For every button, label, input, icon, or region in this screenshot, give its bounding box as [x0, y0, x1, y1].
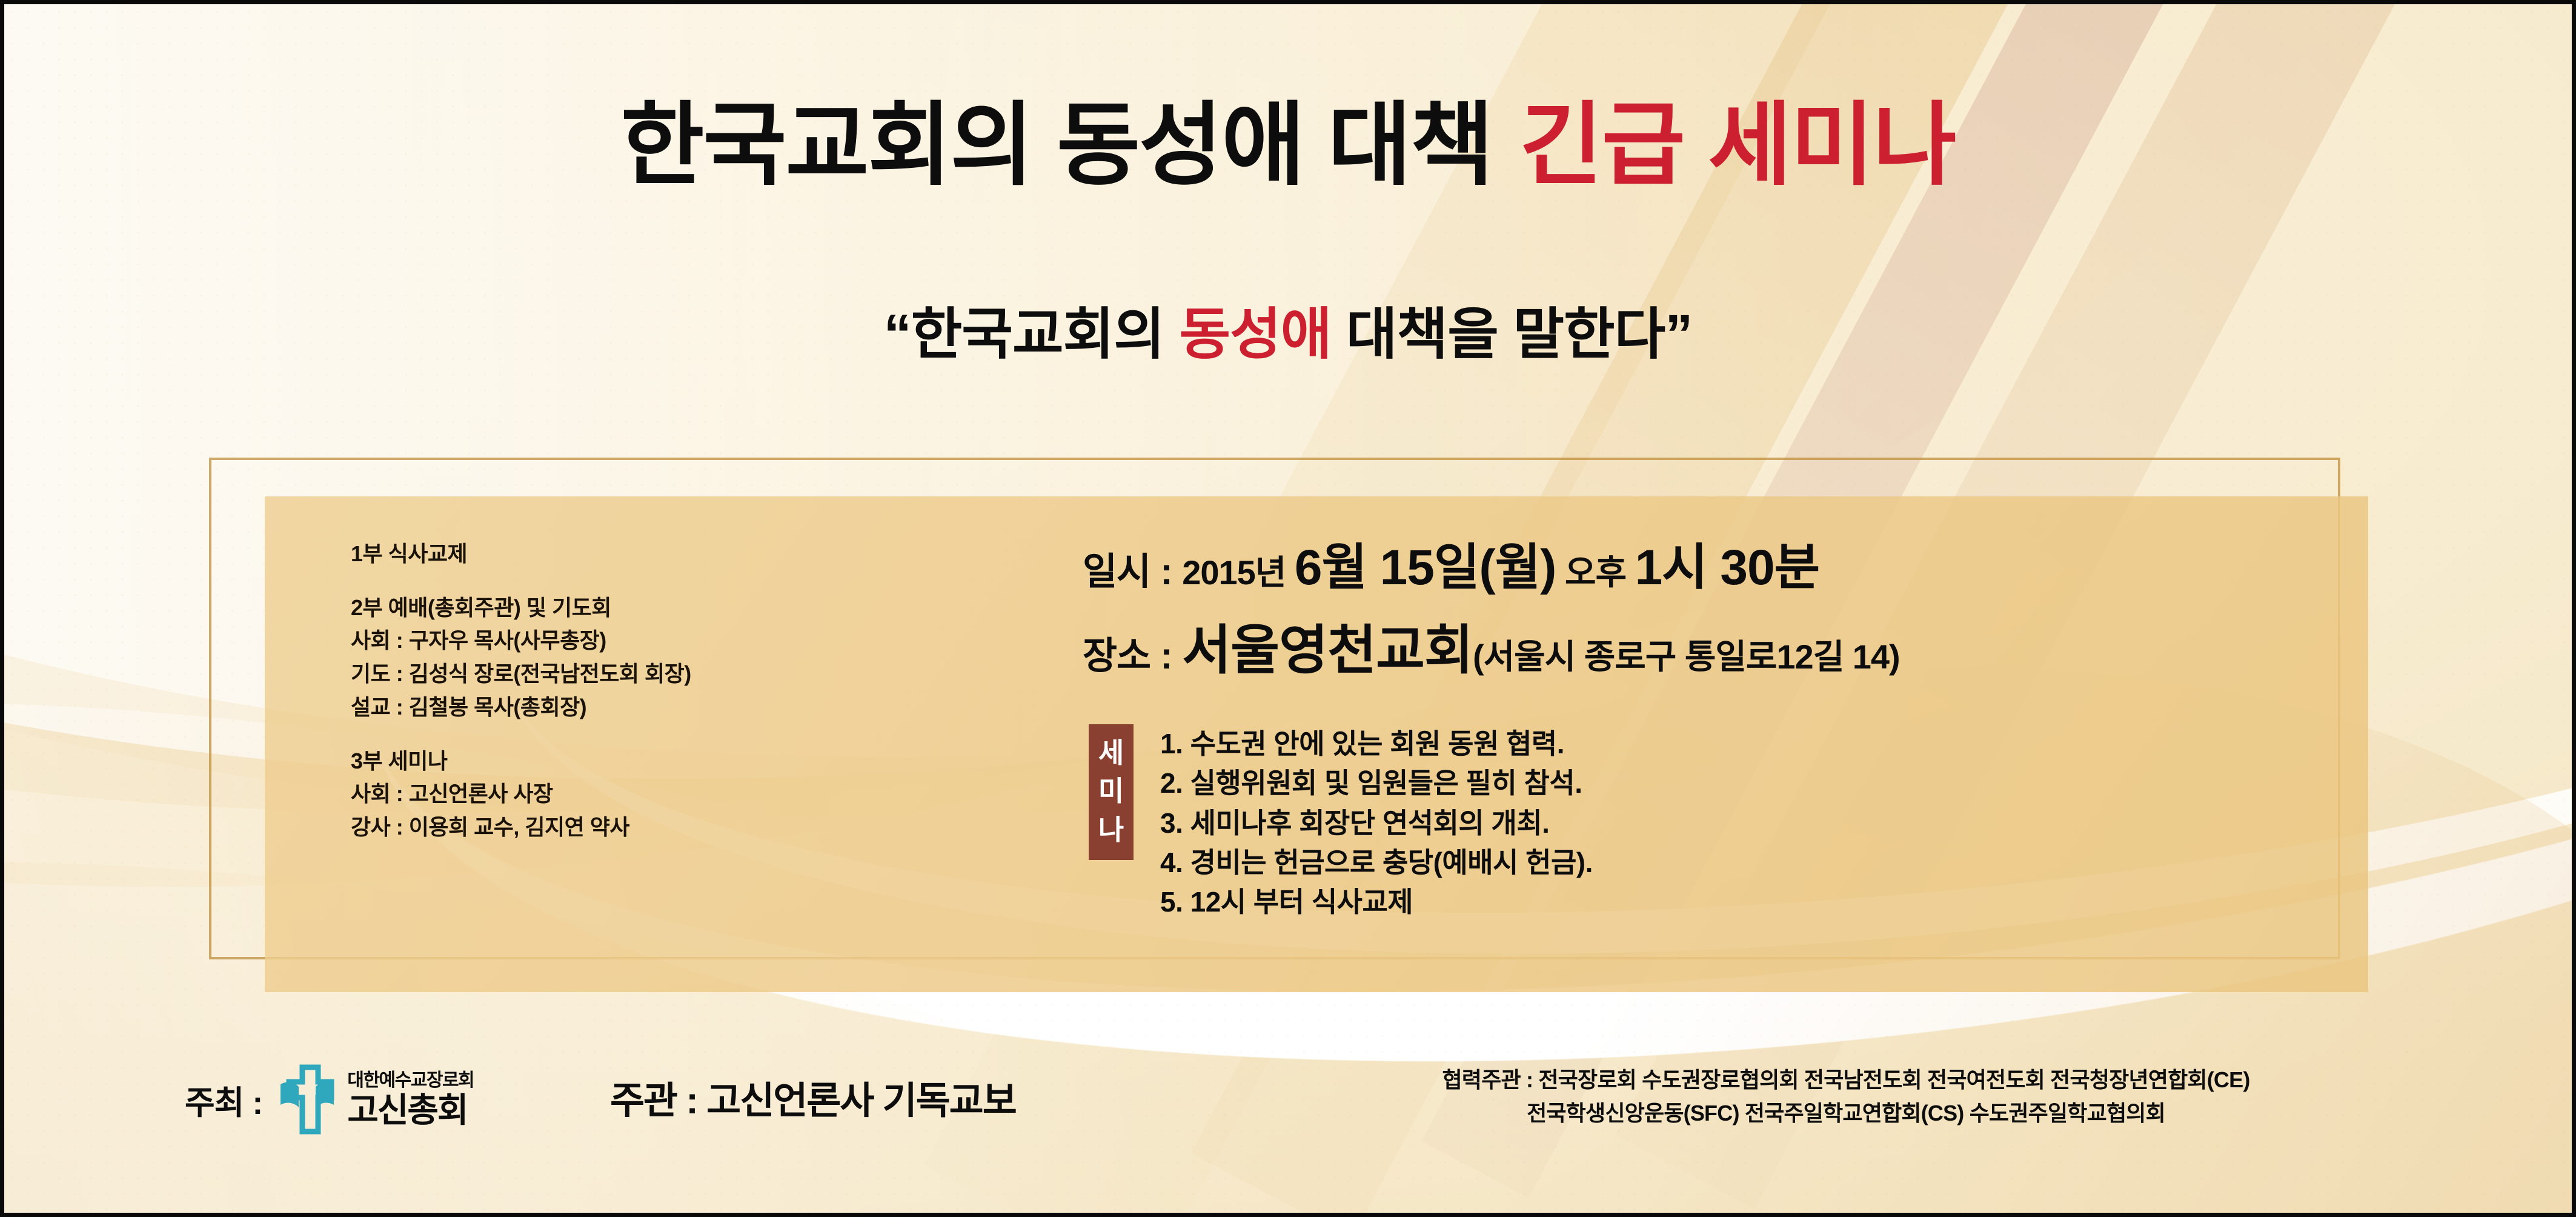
datetime-label: 일시 : — [1083, 551, 1182, 593]
partner-organizations: 협력주관 : 전국장로회 수도권장로협의회 전국남전도회 전국여전도회 전국청장… — [1173, 1064, 2518, 1130]
datetime-month-day: 6월 15일(월) — [1295, 540, 1556, 595]
subtitle-accent: 동성애 — [1179, 304, 1331, 365]
location-address: (서울시 종로구 통일로12길 14) — [1473, 638, 1900, 676]
program-line: 사회 : 구자우 목사(사무총장) — [351, 624, 896, 658]
program-block: 2부 예배(총회주관) 및 기도회 사회 : 구자우 목사(사무총장) 기도 :… — [351, 592, 896, 724]
program-line: 3부 세미나 — [351, 745, 896, 778]
note-item: 3. 세미나후 회장단 연석회의 개최. — [1160, 804, 1593, 843]
logo-bottom-line: 고신총회 — [347, 1093, 474, 1127]
program-line: 설교 : 김철봉 목사(총회장) — [351, 691, 896, 724]
badge-char: 나 — [1089, 811, 1134, 849]
logo-wordmark: 대한예수교장로회 고신총회 — [347, 1072, 474, 1127]
event-location: 장소 : 서울영천교회(서울시 종로구 통일로12길 14) — [1083, 607, 2391, 684]
logo-top-line: 대한예수교장로회 — [347, 1072, 474, 1090]
host-block: 주최 : 대한예수교장로회 고신총회 — [185, 1064, 474, 1135]
program-block: 1부 식사교제 — [351, 538, 896, 571]
banner-title: 한국교회의 동성애 대책긴급 세미나 — [4, 95, 2572, 195]
location-label: 장소 : — [1083, 635, 1182, 677]
program-schedule: 1부 식사교제 2부 예배(총회주관) 및 기도회 사회 : 구자우 목사(사무… — [351, 538, 896, 844]
seminar-notes-list: 1. 수도권 안에 있는 회원 동원 협력. 2. 실행위원회 및 임원들은 필… — [1160, 724, 1593, 922]
badge-char: 세 — [1089, 734, 1134, 772]
program-line: 2부 예배(총회주관) 및 기도회 — [351, 592, 896, 625]
note-item: 1. 수도권 안에 있는 회원 동원 협력. — [1160, 724, 1593, 764]
badge-char: 미 — [1089, 772, 1134, 810]
seminar-notes: 세 미 나 1. 수도권 안에 있는 회원 동원 협력. 2. 실행위원회 및 … — [1089, 724, 1593, 922]
subtitle-open-quote: “ — [884, 304, 911, 365]
program-line: 기도 : 김성식 장로(전국남전도회 회장) — [351, 658, 896, 691]
seminar-banner: 한국교회의 동성애 대책긴급 세미나 “한국교회의 동성애 대책을 말한다” 1… — [0, 0, 2576, 1217]
subtitle-tail: 대책을 말한다 — [1331, 304, 1665, 365]
note-item: 2. 실행위원회 및 임원들은 필히 참석. — [1160, 764, 1593, 803]
seminar-badge: 세 미 나 — [1089, 724, 1134, 860]
note-item: 4. 경비는 헌금으로 충당(예배시 헌금). — [1160, 843, 1593, 882]
subtitle-close-quote: ” — [1665, 304, 1692, 365]
cross-book-icon — [278, 1064, 336, 1135]
datetime-year: 2015년 — [1182, 553, 1295, 592]
banner-subtitle: “한국교회의 동성애 대책을 말한다” — [4, 289, 2572, 370]
program-line: 사회 : 고신언론사 사장 — [351, 778, 896, 811]
location-venue: 서울영천교회 — [1182, 620, 1473, 680]
banner-footer: 주최 : 대한예수교장로회 고신총회 주관 : 고신언론사 기독교보 — [4, 1029, 2572, 1210]
title-part-main: 한국교회의 동성애 대책 — [620, 94, 1492, 196]
title-part-accent: 긴급 세미나 — [1519, 94, 1956, 196]
program-line: 강사 : 이용희 교수, 김지연 약사 — [351, 811, 896, 844]
organizer-label: 주관 : 고신언론사 기독교보 — [610, 1070, 1016, 1124]
partner-line: 전국학생신앙운동(SFC) 전국주일학교연합회(CS) 수도권주일학교협의회 — [1173, 1097, 2518, 1130]
datetime-time: 1시 30분 — [1635, 540, 1819, 595]
program-line: 1부 식사교제 — [351, 538, 896, 571]
subtitle-lead: 한국교회의 — [911, 304, 1180, 365]
host-label: 주최 : — [185, 1076, 262, 1124]
event-datetime: 일시 : 2015년 6월 15일(월) 오후 1시 30분 — [1083, 527, 2391, 599]
partner-line: 협력주관 : 전국장로회 수도권장로협의회 전국남전도회 전국여전도회 전국청장… — [1173, 1064, 2518, 1097]
program-block: 3부 세미나 사회 : 고신언론사 사장 강사 : 이용희 교수, 김지연 약사 — [351, 745, 896, 844]
note-item: 5. 12시 부터 식사교제 — [1160, 882, 1593, 922]
datetime-ampm: 오후 — [1556, 553, 1635, 592]
event-details: 일시 : 2015년 6월 15일(월) 오후 1시 30분 장소 : 서울영천… — [1071, 527, 2391, 684]
